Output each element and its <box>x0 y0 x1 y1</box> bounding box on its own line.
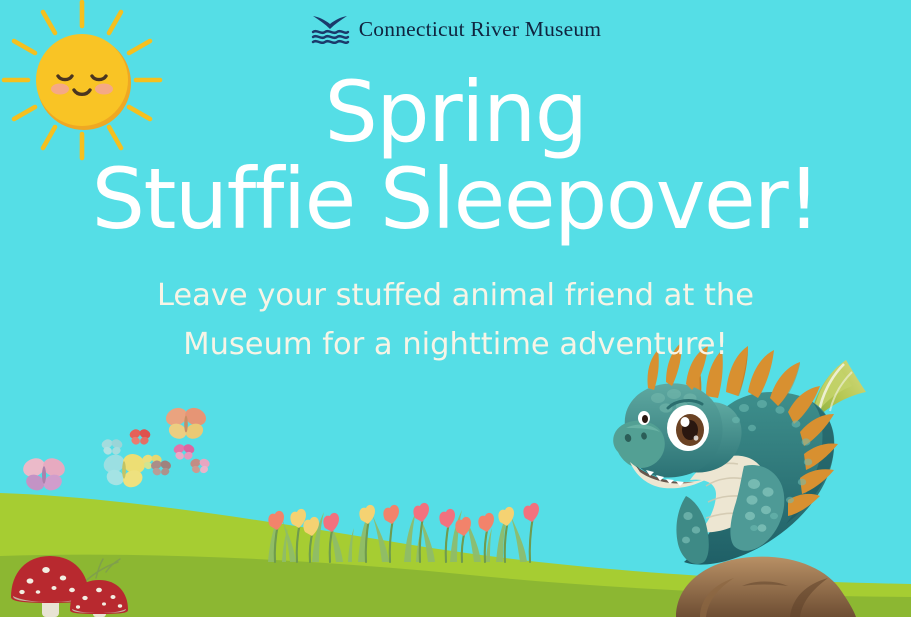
dragon-front-leg <box>676 496 708 564</box>
gull-over-waves-mark <box>310 14 350 44</box>
sea-serpent-illustration <box>0 0 911 617</box>
poster-canvas: Connecticut River Museum Spring Stuffie … <box>0 0 911 617</box>
museum-logo[interactable]: Connecticut River Museum <box>0 14 911 44</box>
dragon-far-eye <box>638 411 650 425</box>
logo-text: Connecticut River Museum <box>359 17 601 42</box>
rock-illustration <box>676 557 856 617</box>
